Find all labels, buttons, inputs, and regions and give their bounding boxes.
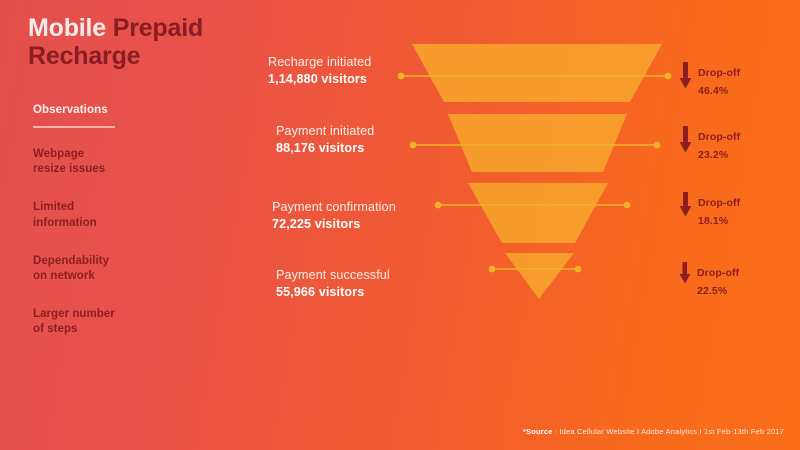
footer-source-rest: : Idea Cellular Website I Adobe Analytic… [553, 427, 784, 436]
stage-value: 88,176 visitors [276, 140, 374, 157]
stage-name: Recharge initiated [268, 55, 371, 71]
funnel-chart: Recharge initiated 1,14,880 visitors Pay… [0, 0, 800, 450]
arrow-down-icon [679, 62, 692, 94]
stage-name: Payment confirmation [272, 200, 396, 216]
dropoff-value: 18.1% [698, 215, 728, 227]
dropoff-3: Drop-off 18.1% [679, 192, 740, 229]
arrow-down-icon [679, 192, 692, 222]
dropoff-value: 46.4% [698, 85, 728, 97]
dropoff-4: Drop-off 22.5% [679, 262, 739, 299]
stage-value: 72,225 visitors [272, 216, 396, 233]
stage-label-3: Payment confirmation 72,225 visitors [272, 200, 396, 232]
dropoff-1: Drop-off 46.4% [679, 62, 740, 99]
stage-label-1: Recharge initiated 1,14,880 visitors [268, 55, 371, 87]
dropoff-value: 23.2% [698, 149, 728, 161]
footer-source: *Source : Idea Cellular Website I Adobe … [523, 427, 784, 436]
arrow-down-icon [679, 262, 691, 289]
dropoff-2: Drop-off 23.2% [679, 126, 740, 163]
dropoff-label: Drop-off [698, 197, 740, 209]
dropoff-label: Drop-off [697, 267, 739, 279]
stage-name: Payment initiated [276, 124, 374, 140]
dropoff-value: 22.5% [697, 285, 727, 297]
funnel-segment-1[interactable] [412, 44, 662, 102]
arrow-down-icon [679, 126, 692, 158]
dropoff-label: Drop-off [698, 67, 740, 79]
funnel-segment-4[interactable] [505, 253, 574, 299]
dropoff-label: Drop-off [698, 131, 740, 143]
stage-label-4: Payment successful 55,966 visitors [276, 268, 390, 300]
stage-value: 1,14,880 visitors [268, 71, 371, 88]
stage-label-2: Payment initiated 88,176 visitors [276, 124, 374, 156]
funnel-segment-2[interactable] [448, 114, 627, 172]
stage-value: 55,966 visitors [276, 284, 390, 301]
footer-source-prefix: *Source [523, 427, 553, 436]
funnel-segment-3[interactable] [468, 183, 608, 243]
stage-name: Payment successful [276, 268, 390, 284]
